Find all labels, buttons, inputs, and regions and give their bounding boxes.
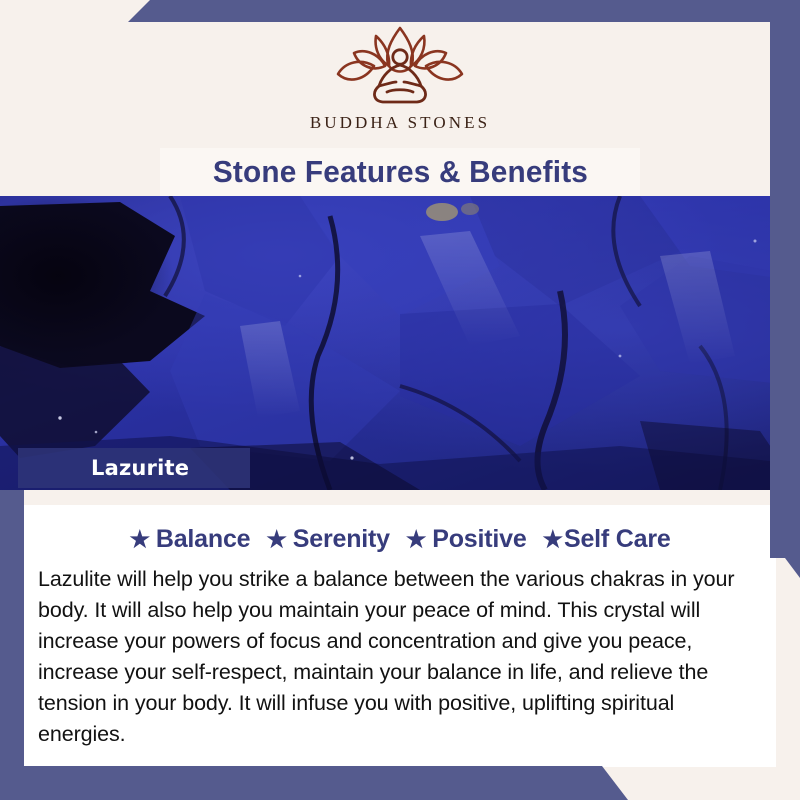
benefit-item-serenity: ★ Serenity [266, 525, 389, 554]
frame-right-band [770, 0, 800, 580]
star-icon: ★ [543, 528, 563, 551]
title-plate: Stone Features & Benefits [160, 148, 640, 196]
benefit-label: Balance [156, 525, 251, 554]
star-icon: ★ [266, 528, 286, 551]
card-top-gap [24, 490, 776, 505]
star-icon: ★ [406, 528, 426, 551]
stone-description: Lazulite will help you strike a balance … [38, 564, 762, 750]
lotus-meditation-icon [329, 22, 471, 108]
stone-name-label: Lazurite [18, 448, 250, 488]
brand-name: BUDDHA STONES [310, 113, 490, 133]
benefit-label: Self Care [564, 525, 671, 554]
page-title: Stone Features & Benefits [212, 154, 587, 190]
benefit-label: Positive [432, 525, 526, 554]
star-icon: ★ [129, 528, 149, 551]
lazurite-stone-photo [0, 196, 800, 490]
stone-name-text: Lazurite [91, 456, 189, 480]
brand-logo: BUDDHA STONES [0, 22, 800, 133]
content-card: ★ Balance ★ Serenity ★ Positive ★ Self C… [24, 505, 776, 767]
frame-bottom-band [0, 766, 800, 800]
benefit-item-self-care: ★ Self Care [543, 525, 671, 554]
benefit-item-positive: ★ Positive [406, 525, 527, 554]
stone-texture-graphic [0, 196, 800, 490]
benefits-row: ★ Balance ★ Serenity ★ Positive ★ Self C… [24, 525, 776, 554]
frame-left-band [0, 490, 24, 800]
stone-info-poster: Lazurite [0, 0, 800, 800]
benefit-item-balance: ★ Balance [129, 525, 250, 554]
benefit-label: Serenity [293, 525, 390, 554]
